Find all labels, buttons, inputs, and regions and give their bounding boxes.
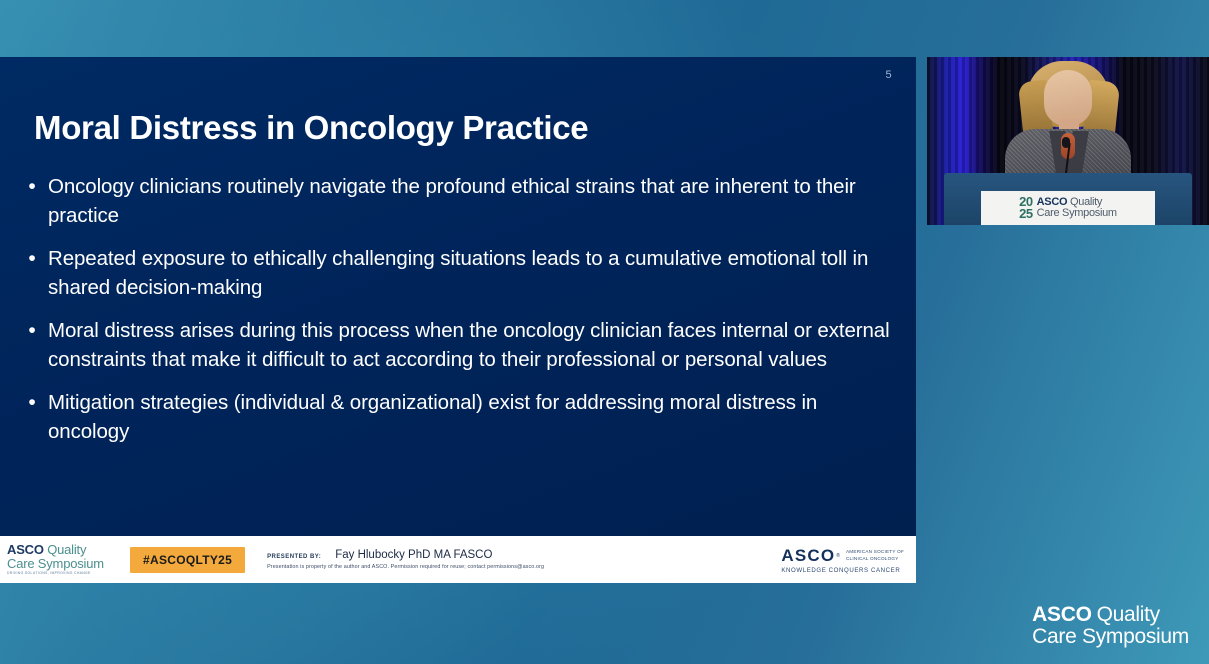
microphone-icon — [1062, 137, 1070, 148]
slide-footer-bar: ASCO Quality Care Symposium DRIVING SOLU… — [0, 536, 916, 583]
slide-title: Moral Distress in Oncology Practice — [34, 109, 588, 147]
bullet-marker-icon: • — [16, 244, 48, 274]
asco-wordmark: ASCO — [7, 542, 44, 557]
podium-year-bottom: 25 — [1019, 208, 1032, 220]
slide-bullet-list: • Oncology clinicians routinely navigate… — [16, 172, 892, 460]
bullet-text: Mitigation strategies (individual & orga… — [48, 388, 892, 446]
presenter-name: Fay Hlubocky PhD MA FASCO — [335, 549, 492, 561]
speaker-video-thumbnail[interactable]: 20 25 ASCO Quality Care Symposium — [927, 57, 1209, 225]
asco-logo-right: ASCO ® AMERICAN SOCIETY OF CLINICAL ONCO… — [781, 546, 904, 574]
bullet-marker-icon: • — [16, 172, 48, 202]
podium-sign-text: ASCO Quality Care Symposium — [1037, 197, 1117, 219]
asco-corner-watermark: ASCOQuality Care Symposium — [1032, 604, 1189, 649]
asco-subtitle-line1: AMERICAN SOCIETY OF — [846, 549, 904, 554]
bullet-text: Oncology clinicians routinely navigate t… — [48, 172, 892, 230]
copyright-disclaimer: Presentation is property of the author a… — [267, 564, 544, 570]
bullet-item: • Repeated exposure to ethically challen… — [16, 244, 892, 302]
bullet-marker-icon: • — [16, 388, 48, 418]
podium-sign: 20 25 ASCO Quality Care Symposium — [981, 191, 1155, 225]
podium-care-symposium-line: Care Symposium — [1037, 208, 1117, 219]
asco-logo-tagline: DRIVING SOLUTIONS, IMPROVING CHANGE — [7, 572, 112, 576]
bullet-item: • Moral distress arises during this proc… — [16, 316, 892, 374]
podium-asco-wordmark: ASCO — [1037, 196, 1068, 208]
bullet-text: Moral distress arises during this proces… — [48, 316, 892, 374]
bullet-item: • Mitigation strategies (individual & or… — [16, 388, 892, 446]
slide-number: 5 — [885, 69, 892, 81]
podium: 20 25 ASCO Quality Care Symposium — [944, 173, 1192, 225]
asco-quality-word: Quality — [47, 542, 86, 557]
asco-quality-logo-left: ASCO Quality Care Symposium DRIVING SOLU… — [7, 543, 112, 576]
watermark-care-symposium: Care Symposium — [1032, 626, 1189, 648]
speaker-face — [1044, 70, 1092, 126]
podium-sign-year: 20 25 — [1019, 196, 1032, 221]
podium-quality-word: Quality — [1070, 196, 1102, 208]
asco-tagline-right: KNOWLEDGE CONQUERS CANCER — [781, 567, 904, 574]
asco-subtitle-line2: CLINICAL ONCOLOGY — [846, 556, 899, 561]
trademark-icon: ® — [836, 553, 840, 559]
watermark-quality: Quality — [1097, 603, 1160, 626]
bullet-text: Repeated exposure to ethically challengi… — [48, 244, 892, 302]
presentation-slide[interactable]: 5 Moral Distress in Oncology Practice • … — [0, 57, 916, 583]
bullet-item: • Oncology clinicians routinely navigate… — [16, 172, 892, 230]
asco-wordmark-right: ASCO — [781, 546, 835, 566]
hashtag-badge[interactable]: #ASCOQLTY25 — [130, 547, 245, 573]
presenter-block: PRESENTED BY: Fay Hlubocky PhD MA FASCO … — [267, 549, 544, 570]
watermark-asco: ASCO — [1032, 603, 1091, 626]
speaker-figure — [1009, 59, 1127, 185]
asco-care-symposium-line: Care Symposium — [7, 557, 112, 571]
presented-by-label: PRESENTED BY: — [267, 554, 321, 560]
bullet-marker-icon: • — [16, 316, 48, 346]
